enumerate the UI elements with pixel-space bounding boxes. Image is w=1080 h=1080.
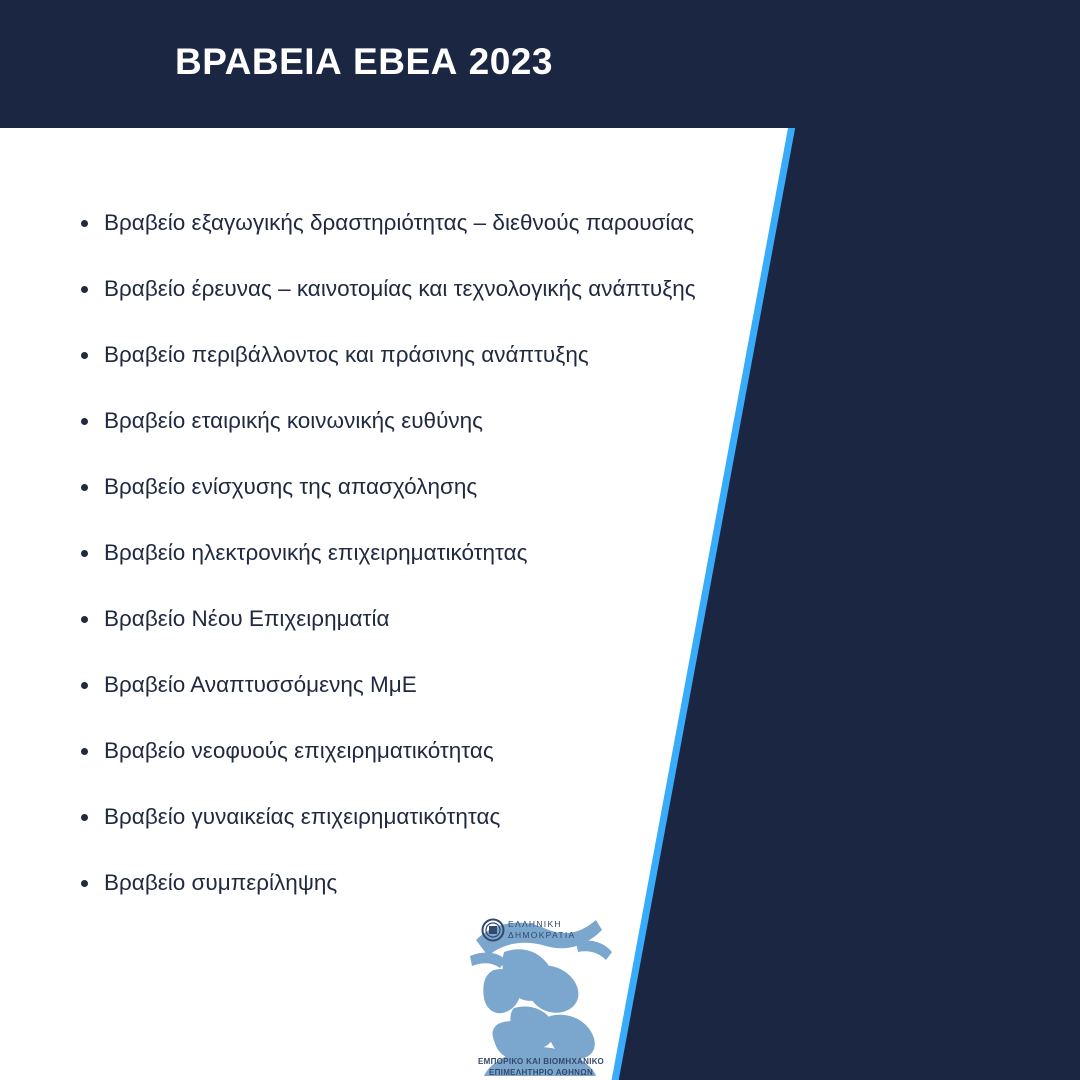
bullet-icon bbox=[81, 418, 88, 425]
list-item: Βραβείο ενίσχυσης της απασχόλησης bbox=[78, 454, 778, 520]
logo-caption-line-1: ΕΜΠΟΡΙΚΟ ΚΑΙ ΒΙΟΜΗΧΑΝΙΚΟ bbox=[478, 1057, 604, 1066]
list-item: Βραβείο συμπερίληψης bbox=[78, 850, 778, 916]
award-label: Βραβείο εταιρικής κοινωνικής ευθύνης bbox=[104, 407, 483, 435]
bullet-icon bbox=[81, 286, 88, 293]
bullet-icon bbox=[81, 748, 88, 755]
list-item: Βραβείο εξαγωγικής δραστηριότητας – διεθ… bbox=[78, 190, 778, 256]
logo-caption-line-2: ΕΠΙΜΕΛΗΤΗΡΙΟ ΑΘΗΝΩΝ bbox=[489, 1068, 593, 1077]
award-label: Βραβείο έρευνας – καινοτομίας και τεχνολ… bbox=[104, 275, 696, 303]
republic-seal-icon bbox=[483, 920, 504, 941]
award-label: Βραβείο Νέου Επιχειρηματία bbox=[104, 605, 389, 633]
awards-list: Βραβείο εξαγωγικής δραστηριότητας – διεθ… bbox=[78, 190, 778, 916]
list-item: Βραβείο Νέου Επιχειρηματία bbox=[78, 586, 778, 652]
list-item: Βραβείο ηλεκτρονικής επιχειρηματικότητας bbox=[78, 520, 778, 586]
bullet-icon bbox=[81, 814, 88, 821]
list-item: Βραβείο εταιρικής κοινωνικής ευθύνης bbox=[78, 388, 778, 454]
list-item: Βραβείο γυναικείας επιχειρηματικότητας bbox=[78, 784, 778, 850]
bullet-icon bbox=[81, 616, 88, 623]
award-label: Βραβείο γυναικείας επιχειρηματικότητας bbox=[104, 803, 500, 831]
bullet-icon bbox=[81, 484, 88, 491]
page-title: ΒΡΑΒΕΙΑ ΕΒΕΑ 2023 bbox=[175, 41, 553, 84]
award-label: Βραβείο Αναπτυσσόμενης ΜμΕ bbox=[104, 671, 417, 699]
acci-logo: ΕΛΛΗΝΙΚΗ ΔΗΜΟΚΡΑΤΙΑ ΕΜΠΟΡΙΚΟ ΚΑΙ ΒΙΟΜΗΧΑ… bbox=[470, 912, 612, 1080]
slide-canvas: ΒΡΑΒΕΙΑ ΕΒΕΑ 2023 Βραβείο εξαγωγικής δρα… bbox=[0, 0, 1080, 1080]
award-label: Βραβείο ενίσχυσης της απασχόλησης bbox=[104, 473, 477, 501]
list-item: Βραβείο περιβάλλοντος και πράσινης ανάπτ… bbox=[78, 322, 778, 388]
bullet-icon bbox=[81, 550, 88, 557]
seal-line-1: ΕΛΛΗΝΙΚΗ bbox=[508, 919, 562, 929]
bullet-icon bbox=[81, 682, 88, 689]
award-label: Βραβείο περιβάλλοντος και πράσινης ανάπτ… bbox=[104, 341, 589, 369]
award-label: Βραβείο ηλεκτρονικής επιχειρηματικότητας bbox=[104, 539, 527, 567]
seal-line-2: ΔΗΜΟΚΡΑΤΙΑ bbox=[508, 930, 575, 940]
award-label: Βραβείο συμπερίληψης bbox=[104, 869, 337, 897]
bullet-icon bbox=[81, 352, 88, 359]
list-item: Βραβείο έρευνας – καινοτομίας και τεχνολ… bbox=[78, 256, 778, 322]
bullet-icon bbox=[81, 220, 88, 227]
award-label: Βραβείο νεοφυούς επιχειρηματικότητας bbox=[104, 737, 494, 765]
bullet-icon bbox=[81, 880, 88, 887]
list-item: Βραβείο νεοφυούς επιχειρηματικότητας bbox=[78, 718, 778, 784]
hermes-emblem-icon: ΕΛΛΗΝΙΚΗ ΔΗΜΟΚΡΑΤΙΑ ΕΜΠΟΡΙΚΟ ΚΑΙ ΒΙΟΜΗΧΑ… bbox=[470, 912, 612, 1080]
award-label: Βραβείο εξαγωγικής δραστηριότητας – διεθ… bbox=[104, 209, 694, 237]
list-item: Βραβείο Αναπτυσσόμενης ΜμΕ bbox=[78, 652, 778, 718]
